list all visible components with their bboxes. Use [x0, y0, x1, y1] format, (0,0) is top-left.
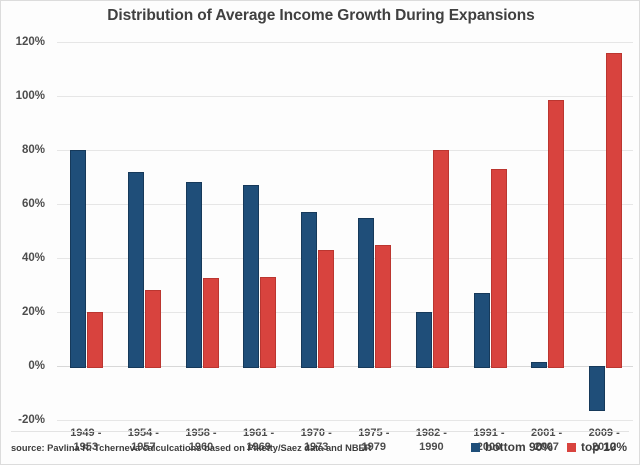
- bar-bottom-90: [128, 172, 144, 368]
- bar-bottom-90: [70, 150, 86, 368]
- footer-divider: [11, 431, 629, 432]
- bar-top-10: [145, 290, 161, 368]
- y-axis-tick-label: 60%: [0, 198, 45, 210]
- bar-top-10: [433, 150, 449, 368]
- y-axis-tick-label: 20%: [0, 306, 45, 318]
- bar-bottom-90: [243, 185, 259, 368]
- y-axis-tick-label: 80%: [0, 144, 45, 156]
- chart-legend: bottom 90% top 10%: [471, 440, 627, 454]
- legend-entry-top-10[interactable]: top 10%: [567, 440, 627, 454]
- bar-top-10: [203, 278, 219, 368]
- bar-top-10: [548, 100, 564, 368]
- gridline: [57, 42, 633, 43]
- bar-bottom-90: [186, 182, 202, 368]
- y-axis-tick-label: -20%: [0, 414, 45, 426]
- bar-top-10: [491, 169, 507, 368]
- y-axis-tick-label: 0%: [0, 360, 45, 372]
- gridline: [57, 420, 633, 421]
- bar-bottom-90: [531, 362, 547, 368]
- bar-top-10: [375, 245, 391, 369]
- source-note: source: Pavlina R. Tcherneva calculcatio…: [11, 443, 371, 453]
- bar-bottom-90: [474, 293, 490, 368]
- legend-entry-bottom-90[interactable]: bottom 90%: [471, 440, 553, 454]
- legend-label-bottom-90: bottom 90%: [485, 440, 553, 454]
- y-axis-tick-label: 120%: [0, 36, 45, 48]
- legend-swatch-icon-bottom-90: [471, 443, 480, 452]
- bar-bottom-90: [589, 366, 605, 411]
- bar-top-10: [606, 53, 622, 368]
- y-axis-tick-label: 100%: [0, 90, 45, 102]
- y-axis-tick-label: 40%: [0, 252, 45, 264]
- bar-top-10: [87, 312, 103, 368]
- plot-area: 120%100%80%60%40%20%0%-20% 1949 - 195319…: [57, 42, 633, 420]
- bar-bottom-90: [416, 312, 432, 368]
- chart-container: Distribution of Average Income Growth Du…: [0, 0, 640, 465]
- legend-swatch-icon-top-10: [567, 443, 576, 452]
- bar-top-10: [260, 277, 276, 368]
- legend-label-top-10: top 10%: [581, 440, 627, 454]
- bar-top-10: [318, 250, 334, 368]
- bar-bottom-90: [301, 212, 317, 368]
- bar-bottom-90: [358, 218, 374, 369]
- chart-title: Distribution of Average Income Growth Du…: [1, 7, 640, 25]
- gridline: [57, 96, 633, 97]
- gridline: [57, 150, 633, 151]
